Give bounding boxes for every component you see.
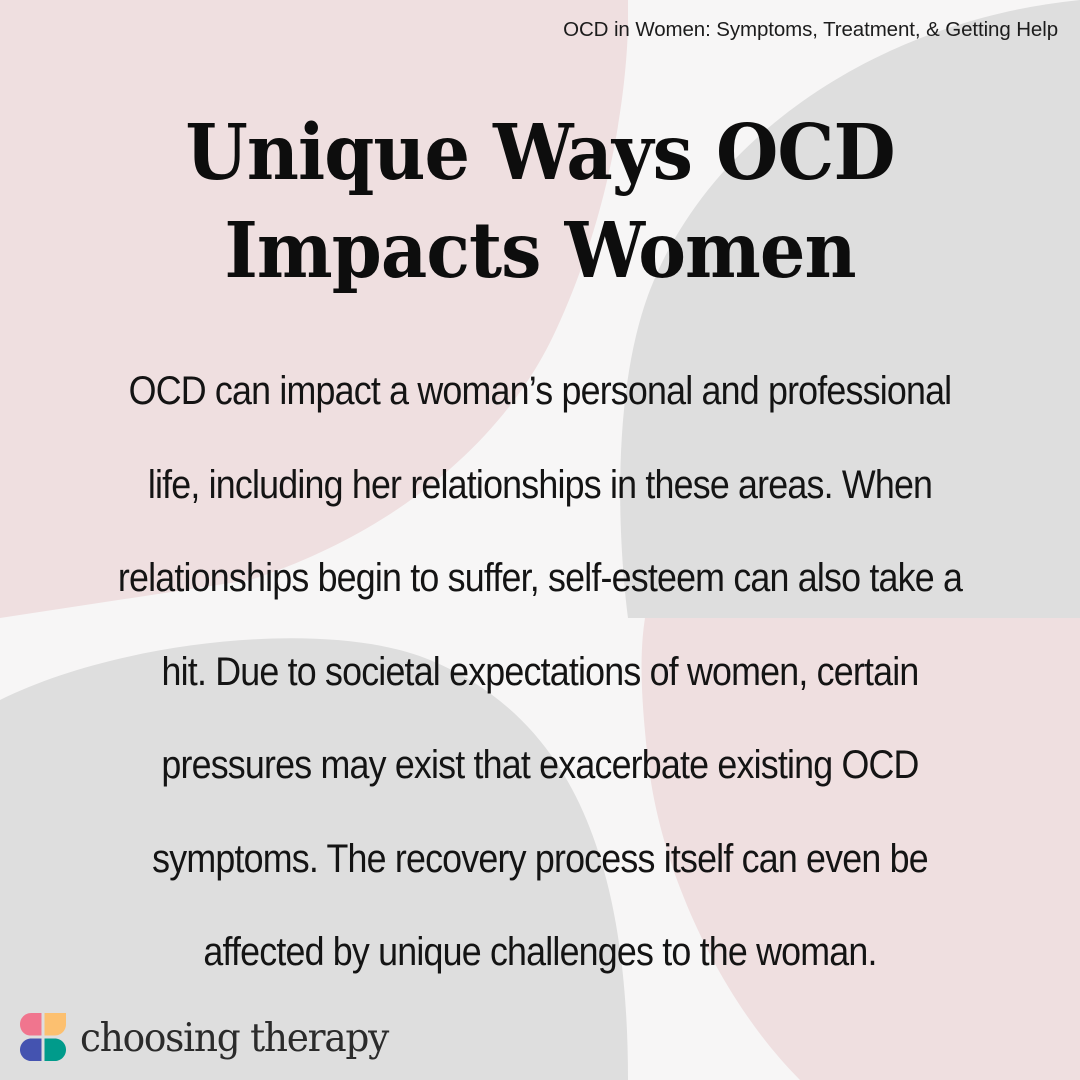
logo-quadrant-teal bbox=[45, 1039, 67, 1062]
brand-logo: choosing therapy bbox=[20, 1012, 401, 1062]
logo-quadrant-pink bbox=[20, 1013, 42, 1036]
brand-name: choosing therapy bbox=[80, 1019, 388, 1058]
body-line-3: relationships begin to suffer, self-este… bbox=[93, 532, 988, 626]
body-line-2: life, including her relationships in the… bbox=[93, 439, 988, 533]
logo-quadrant-blue bbox=[20, 1039, 42, 1062]
logo-quadrant-amber bbox=[45, 1013, 67, 1036]
body-line-7: affected by unique challenges to the wom… bbox=[93, 906, 988, 1000]
title-line-1: Unique Ways OCD bbox=[38, 104, 1042, 202]
header-strapline: OCD in Women: Symptoms, Treatment, & Get… bbox=[563, 18, 1058, 42]
choosing-therapy-quadrant-mark bbox=[20, 1012, 66, 1062]
body-line-4: hit. Due to societal expectations of wom… bbox=[93, 626, 988, 720]
body-line-6: symptoms. The recovery process itself ca… bbox=[93, 813, 988, 907]
body-line-1: OCD can impact a woman’s personal and pr… bbox=[93, 345, 988, 439]
body-line-5: pressures may exist that exacerbate exis… bbox=[93, 719, 988, 813]
body-paragraph: OCD can impact a woman’s personal and pr… bbox=[40, 345, 1040, 1000]
title-line-2: Impacts Women bbox=[38, 202, 1042, 300]
page-title: Unique Ways OCD Impacts Women bbox=[0, 104, 1080, 300]
social-card: OCD in Women: Symptoms, Treatment, & Get… bbox=[0, 0, 1080, 1080]
